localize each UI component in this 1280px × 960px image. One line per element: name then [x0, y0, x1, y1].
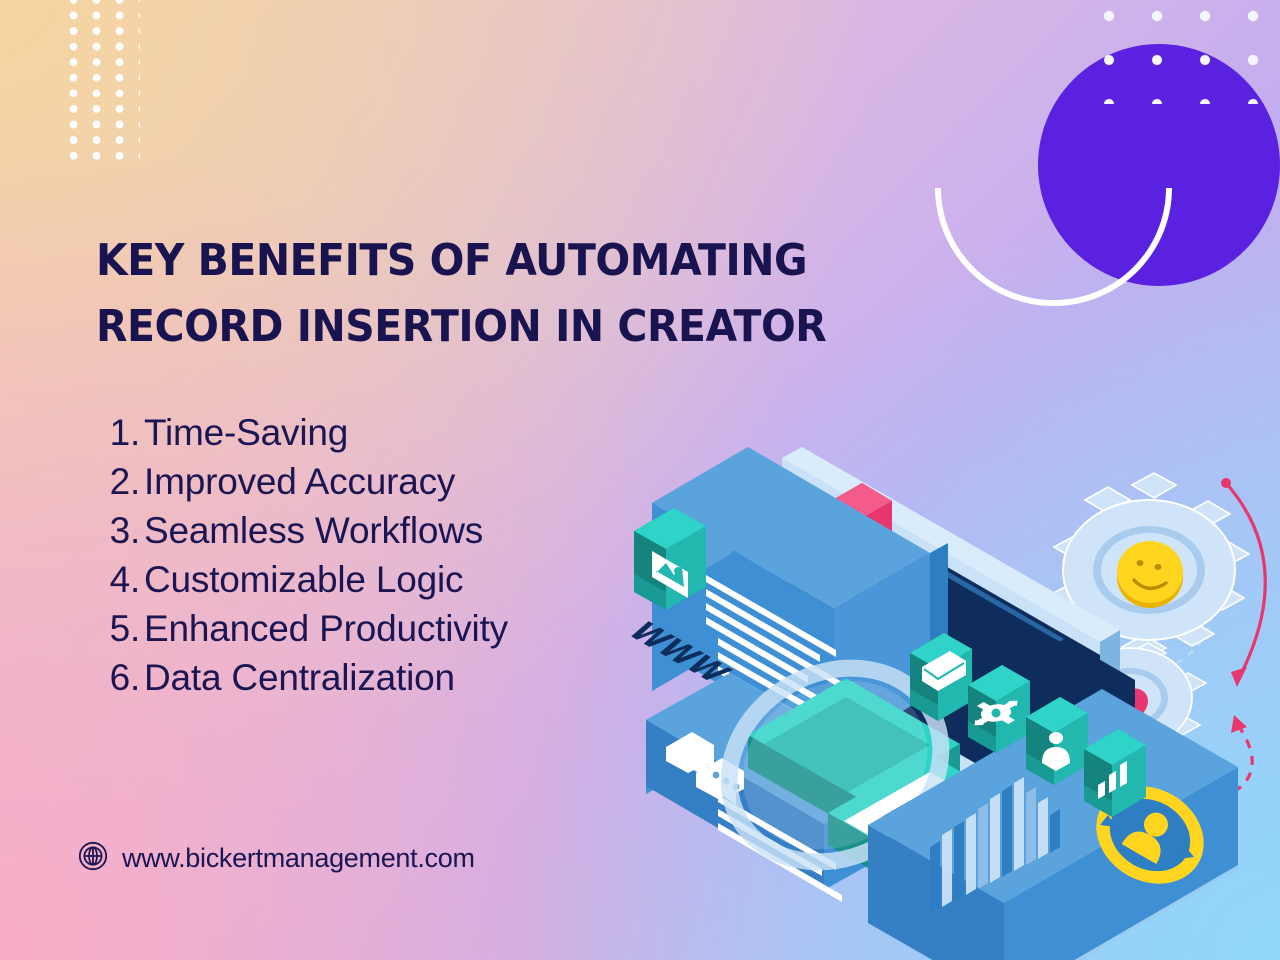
list-item-label: Improved Accuracy: [144, 457, 644, 506]
list-item: 5 . Enhanced Productivity: [84, 604, 644, 653]
isometric-dashboard-illustration: WWW: [630, 395, 1280, 960]
website-url-text: www.bickertmanagement.com: [122, 843, 475, 874]
list-item-label: Time-Saving: [144, 408, 644, 457]
list-item-label: Enhanced Productivity: [144, 604, 644, 653]
list-item-label: Customizable Logic: [144, 555, 644, 604]
list-item: 4 . Customizable Logic: [84, 555, 644, 604]
page-title-line-1: Key Benefits of Automating: [96, 228, 766, 294]
page-title: Key Benefits of Automating Record Insert…: [96, 228, 766, 360]
list-item-dot: .: [130, 408, 144, 457]
benefits-list: 1 . Time-Saving 2 . Improved Accuracy 3 …: [84, 408, 644, 702]
list-item: 6 . Data Centralization: [84, 653, 644, 702]
list-item-dot: .: [130, 555, 144, 604]
list-item-number: 1: [84, 408, 130, 457]
list-item-number: 3: [84, 506, 130, 555]
list-item-dot: .: [130, 457, 144, 506]
dot-grid-overlay: [1085, 0, 1265, 104]
list-item-dot: .: [130, 604, 144, 653]
list-item: 1 . Time-Saving: [84, 408, 644, 457]
list-item-label: Data Centralization: [144, 653, 644, 702]
list-item: 3 . Seamless Workflows: [84, 506, 644, 555]
list-item-dot: .: [130, 506, 144, 555]
half-ring-arc-shape: [935, 188, 1172, 306]
list-item-dot: .: [130, 653, 144, 702]
list-item: 2 . Improved Accuracy: [84, 457, 644, 506]
list-item-label: Seamless Workflows: [144, 506, 644, 555]
list-item-number: 6: [84, 653, 130, 702]
list-item-number: 2: [84, 457, 130, 506]
globe-icon: [78, 841, 108, 876]
list-item-number: 5: [84, 604, 130, 653]
page-title-line-2: Record Insertion in Creator: [96, 294, 766, 360]
list-item-number: 4: [84, 555, 130, 604]
dot-grid-top-left: [62, 0, 140, 162]
smiley-coin-icon: [1117, 541, 1183, 608]
footer-website[interactable]: www.bickertmanagement.com: [78, 841, 475, 876]
